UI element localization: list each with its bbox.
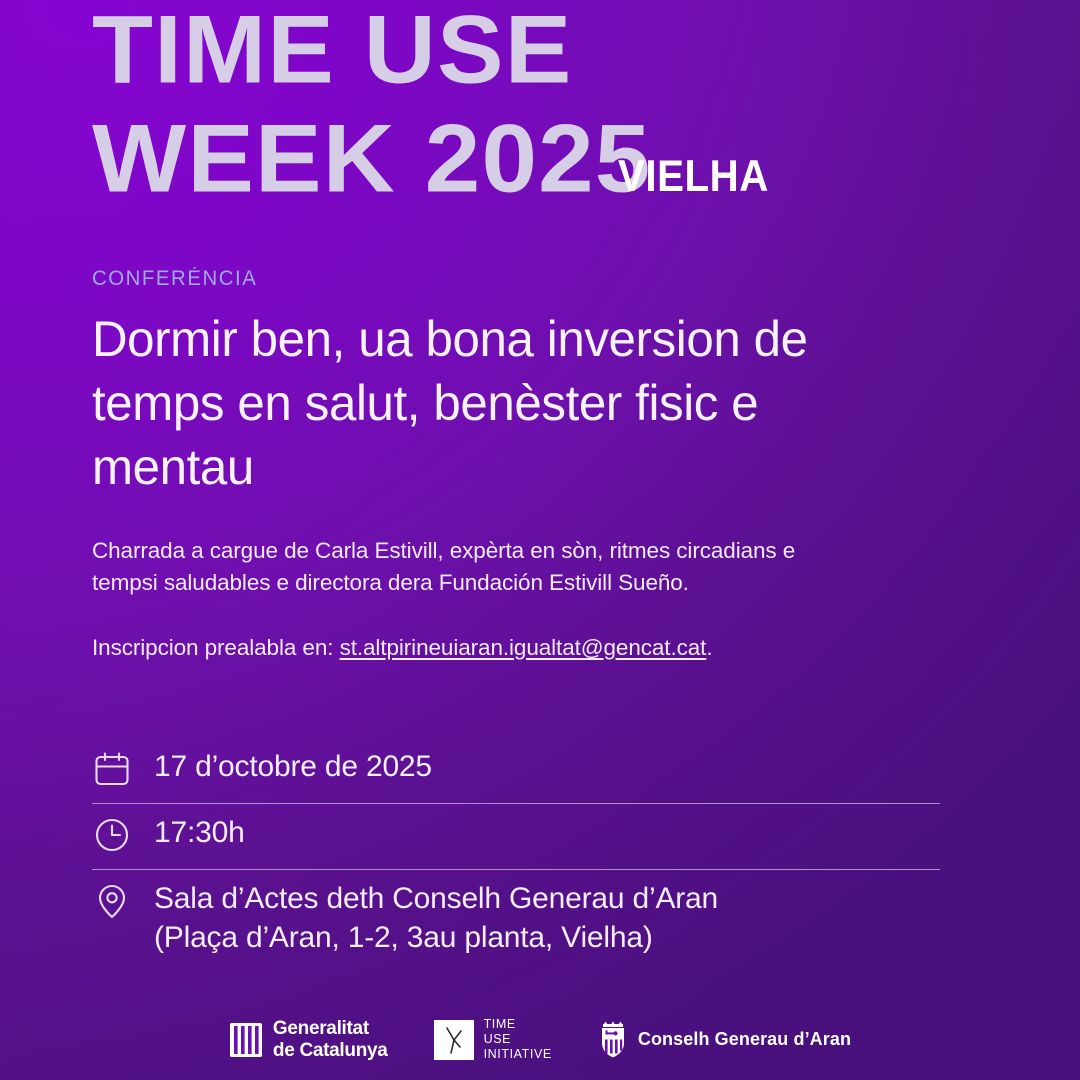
signup-email-link[interactable]: st.altpirineuiaran.igualtat@gencat.cat (340, 635, 707, 660)
detail-date-text: 17 d’octobre de 2025 (154, 746, 432, 786)
location-pin-icon (92, 881, 132, 921)
event-details: 17 d’octobre de 2025 17:30h (92, 738, 940, 971)
title-line-1: TIME USE (92, 4, 1080, 96)
generalitat-line-2: de Catalunya (273, 1040, 388, 1061)
city-label: VIELHA (618, 155, 769, 205)
event-kicker: CONFERÉNCIA (92, 267, 961, 291)
detail-location-text: Sala d’Actes deth Conselh Generau d’Aran… (154, 878, 718, 957)
event-description: Charrada a cargue de Carla Estivill, exp… (92, 535, 852, 600)
time-use-initiative-label: TIME USE INITIATIVE (484, 1017, 552, 1062)
tui-line-2: USE (484, 1032, 512, 1046)
logo-conselh-generau-aran: Conselh Generau d’Aran (598, 1021, 851, 1059)
generalitat-line-1: Generalitat (273, 1018, 369, 1039)
generalitat-label: Generalitat de Catalunya (273, 1018, 388, 1061)
footer-logos: Generalitat de Catalunya TIME USE (0, 1017, 1080, 1062)
signup-prefix: Inscripcion prealabla en: (92, 635, 340, 660)
signup-suffix: . (706, 635, 712, 660)
logo-time-use-initiative: TIME USE INITIATIVE (434, 1017, 552, 1062)
detail-time-text: 17:30h (154, 812, 245, 852)
time-use-initiative-mark-icon (434, 1020, 474, 1060)
tui-line-1: TIME (484, 1017, 516, 1031)
masthead: TIME USE WEEK 2025 VIELHA (0, 0, 1080, 205)
aran-shield-icon (598, 1021, 628, 1059)
signup-line: Inscripcion prealabla en: st.altpirineui… (92, 632, 988, 664)
detail-row-time: 17:30h (92, 804, 940, 869)
clock-icon (92, 815, 132, 855)
tui-line-3: INITIATIVE (484, 1047, 552, 1061)
detail-row-location: Sala d’Actes deth Conselh Generau d’Aran… (92, 870, 940, 971)
poster-canvas: TIME USE WEEK 2025 VIELHA CONFERÉNCIA Do… (0, 0, 1080, 1080)
detail-divider-2 (92, 869, 940, 870)
title-row-2: WEEK 2025 VIELHA (92, 111, 1080, 206)
detail-divider-1 (92, 803, 940, 804)
aran-label: Conselh Generau d’Aran (638, 1029, 851, 1050)
logo-generalitat: Generalitat de Catalunya (229, 1018, 388, 1061)
event-content: CONFERÉNCIA Dormir ben, ua bona inversio… (0, 267, 1080, 971)
detail-row-date: 17 d’octobre de 2025 (92, 738, 940, 803)
generalitat-shield-icon (229, 1022, 263, 1058)
detail-location-line-1: Sala d’Actes deth Conselh Generau d’Aran (154, 882, 718, 915)
event-headline: Dormir ben, ua bona inversion de temps e… (92, 307, 870, 499)
calendar-icon (92, 749, 132, 789)
detail-location-line-2: (Plaça d’Aran, 1-2, 3au planta, Vielha) (154, 918, 718, 957)
title-line-2: WEEK 2025 (92, 113, 651, 205)
